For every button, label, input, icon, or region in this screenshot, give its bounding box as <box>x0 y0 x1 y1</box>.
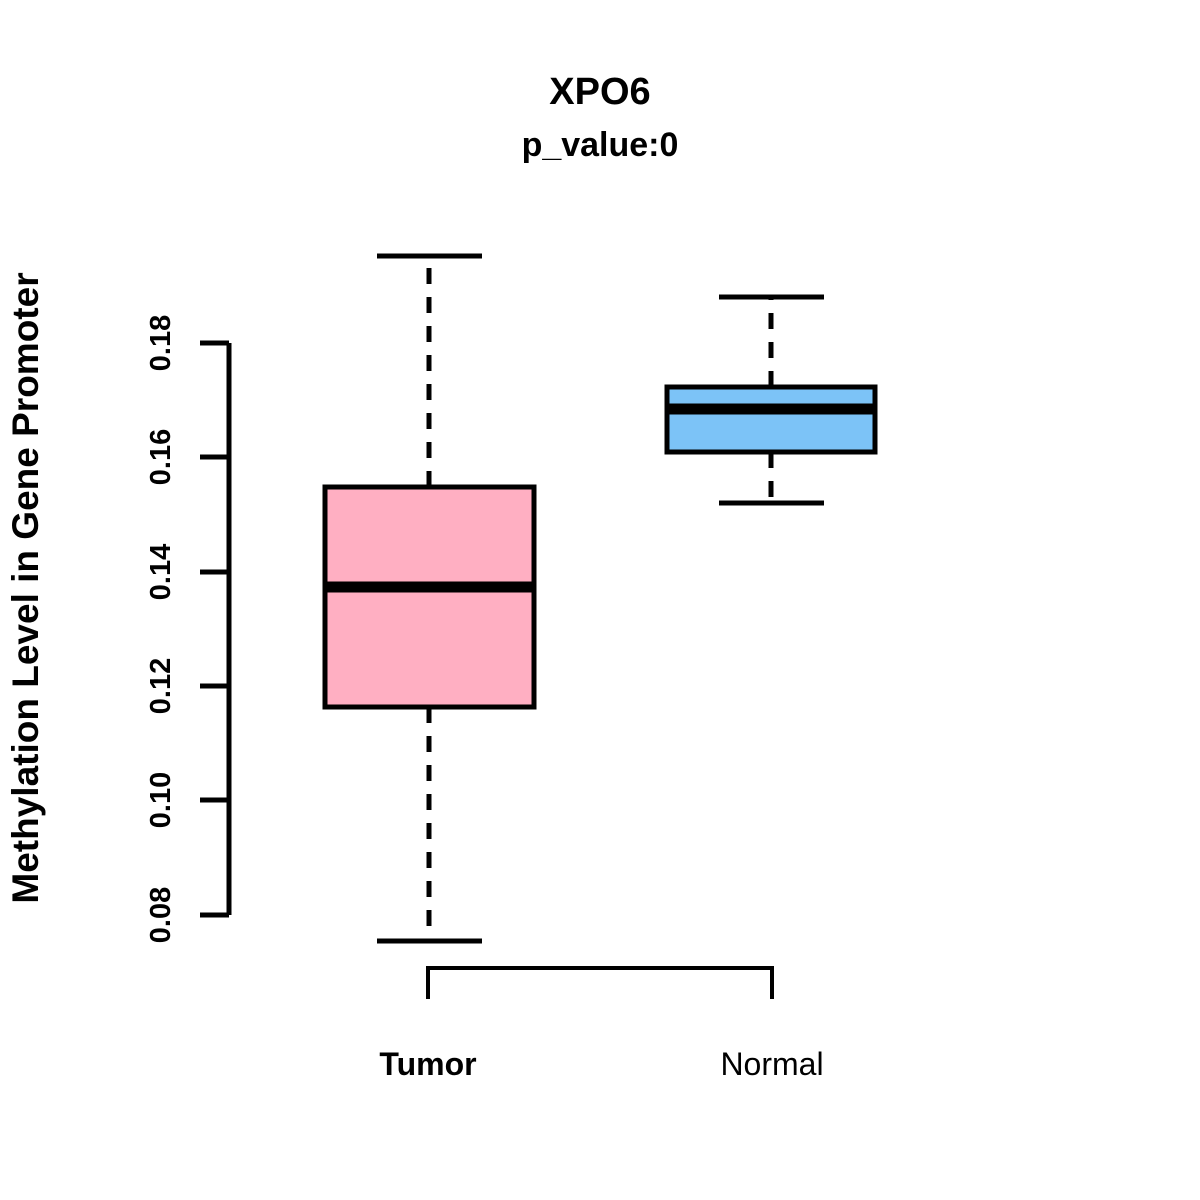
y-axis-tick-label: 0.18 <box>145 315 177 371</box>
y-axis-label: Methylation Level in Gene Promoter <box>5 272 46 903</box>
chart-subtitle: p_value:0 <box>522 126 679 164</box>
box-tumor[interactable] <box>325 487 534 707</box>
y-axis-tick-label: 0.14 <box>145 544 177 600</box>
x-axis-bracket <box>428 968 772 999</box>
plot-canvas: XPO6 p_value:0 Methylation Level in Gene… <box>0 0 1200 1200</box>
x-axis-category-label-normal: Normal <box>720 1046 823 1082</box>
x-axis <box>428 968 772 999</box>
box-normal[interactable] <box>667 387 875 452</box>
y-axis: 0.18 0.16 0.14 0.12 0.10 0.08 <box>145 315 229 943</box>
y-axis-tick-label: 0.08 <box>145 887 177 943</box>
boxplot-group-tumor[interactable] <box>324 256 535 941</box>
boxplot-group-normal[interactable] <box>666 297 876 503</box>
y-axis-tick-label: 0.16 <box>145 429 177 485</box>
y-axis-tick-label: 0.12 <box>145 658 177 714</box>
y-axis-tick-label: 0.10 <box>145 772 177 828</box>
page-title: XPO6 <box>549 71 650 113</box>
x-axis-category-label-tumor: Tumor <box>379 1046 476 1082</box>
boxplot-figure: XPO6 p_value:0 Methylation Level in Gene… <box>0 0 1200 1200</box>
